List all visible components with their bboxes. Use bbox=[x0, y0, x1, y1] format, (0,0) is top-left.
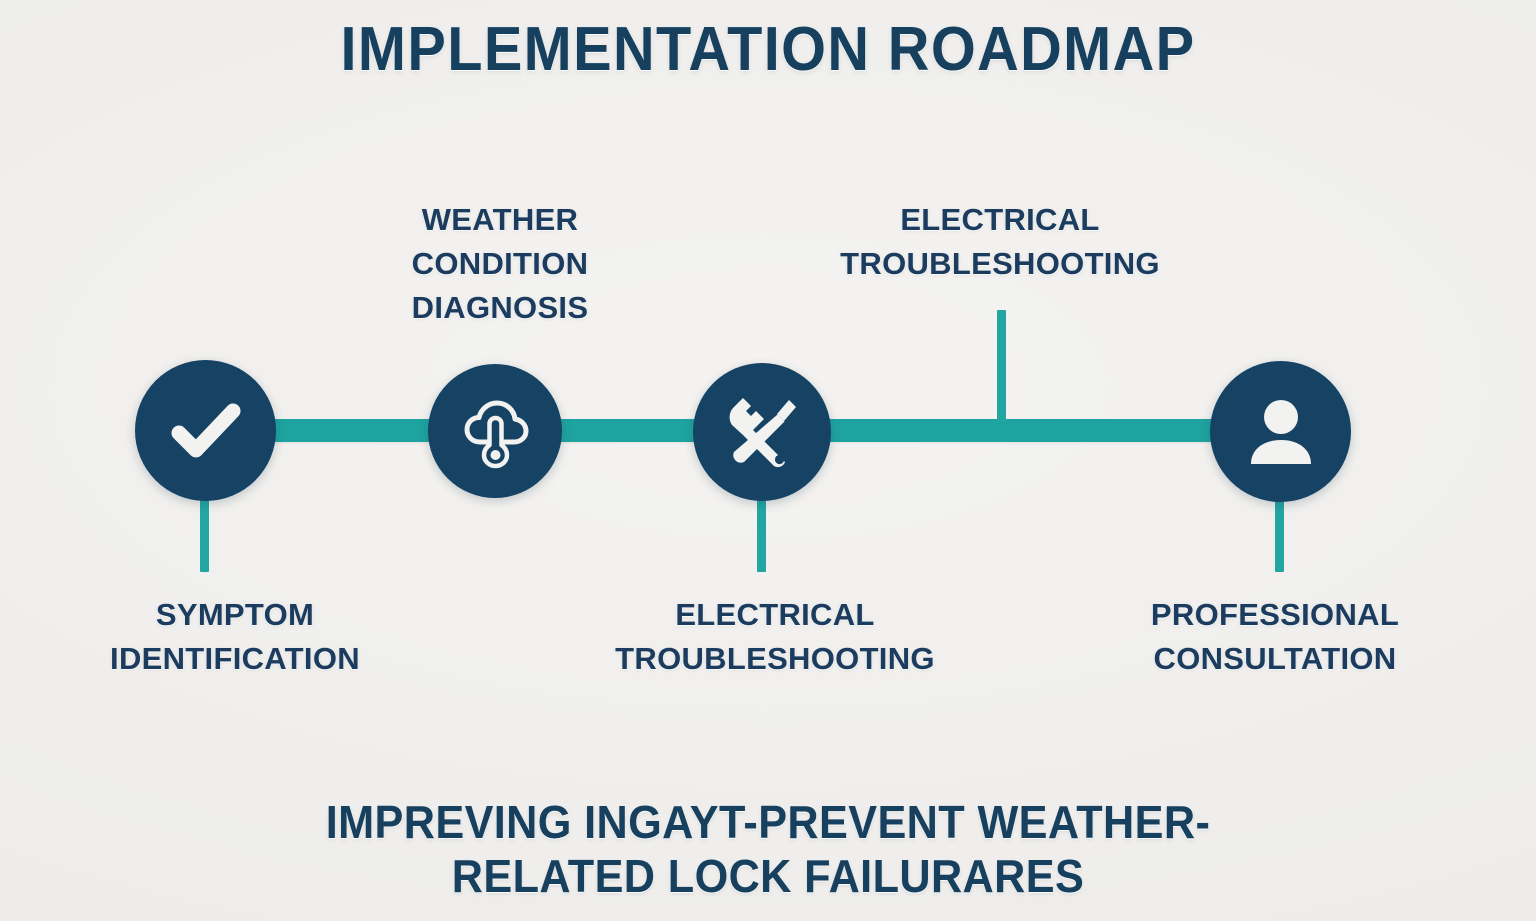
check-icon bbox=[165, 390, 247, 472]
timeline-node-weather-condition-diagnosis[interactable] bbox=[428, 364, 562, 498]
timeline-node-symptom-identification[interactable] bbox=[135, 360, 276, 501]
label-stem-below-node3 bbox=[757, 500, 766, 572]
label-line: PROFESSIONAL bbox=[1085, 593, 1465, 637]
person-icon bbox=[1241, 392, 1321, 472]
label-line: ELECTRICAL bbox=[560, 593, 990, 637]
label-stem-above-node4 bbox=[997, 310, 1006, 422]
label-line: WEATHER bbox=[330, 198, 670, 242]
timeline-connector-2-3 bbox=[548, 419, 706, 442]
label-symptom-identification: SYMPTOM IDENTIFICATION bbox=[35, 593, 435, 681]
label-line: ELECTRICAL bbox=[805, 198, 1195, 242]
label-professional-consultation: PROFESSIONAL CONSULTATION bbox=[1085, 593, 1465, 681]
label-electrical-troubleshooting-top: ELECTRICAL TROUBLESHOOTING bbox=[805, 198, 1195, 286]
label-line: TROUBLESHOOTING bbox=[805, 242, 1195, 286]
footer-line: IMPREVING INGAYT-PREVENT WEATHER- bbox=[46, 795, 1490, 849]
timeline-connector-3-4 bbox=[818, 419, 1218, 442]
footer-caption: IMPREVING INGAYT-PREVENT WEATHER- RELATE… bbox=[46, 795, 1490, 904]
tools-icon bbox=[722, 392, 802, 472]
label-line: TROUBLESHOOTING bbox=[560, 637, 990, 681]
label-line: DIAGNOSIS bbox=[330, 286, 670, 330]
label-line: CONDITION bbox=[330, 242, 670, 286]
label-line: IDENTIFICATION bbox=[35, 637, 435, 681]
label-weather-condition-diagnosis: WEATHER CONDITION DIAGNOSIS bbox=[330, 198, 670, 330]
timeline-node-professional-consultation[interactable] bbox=[1210, 361, 1351, 502]
timeline-node-electrical-troubleshooting[interactable] bbox=[693, 363, 831, 501]
label-line: SYMPTOM bbox=[35, 593, 435, 637]
label-stem-below-node1 bbox=[200, 500, 209, 572]
label-electrical-troubleshooting-bottom: ELECTRICAL TROUBLESHOOTING bbox=[560, 593, 990, 681]
label-line: CONSULTATION bbox=[1085, 637, 1465, 681]
page-title: IMPLEMENTATION ROADMAP bbox=[54, 14, 1482, 85]
cloud-thermometer-icon bbox=[456, 392, 534, 470]
label-stem-below-node4 bbox=[1275, 500, 1284, 572]
footer-line: RELATED LOCK FAILURARES bbox=[46, 849, 1490, 903]
infographic-canvas: IMPLEMENTATION ROADMAP bbox=[0, 0, 1536, 921]
timeline-connector-1-2 bbox=[262, 419, 438, 442]
